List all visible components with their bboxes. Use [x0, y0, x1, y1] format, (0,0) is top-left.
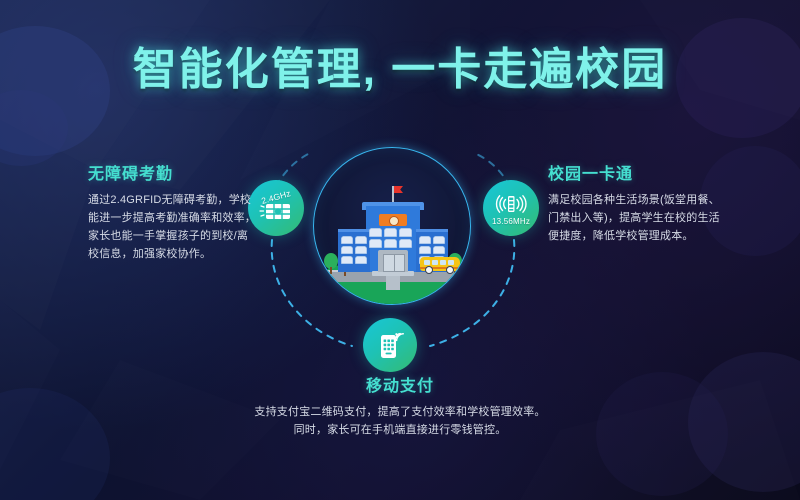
flag-pole: [392, 186, 394, 202]
entrance-path: [386, 274, 400, 290]
building-entrance: [378, 250, 408, 272]
windows-wing-left: [341, 236, 367, 264]
badge-13-56mhz[interactable]: 13.56MHz: [483, 180, 539, 236]
clock-icon: [389, 216, 399, 226]
campus-card-infographic: 智能化管理, 一卡走遍校园: [0, 0, 800, 500]
bg-blob-bottom-right-2: [596, 372, 728, 496]
school-bus: [420, 257, 460, 274]
red-flag-icon: [393, 186, 403, 193]
feature-title-campus-card: 校园一卡通: [548, 160, 720, 184]
bus-wheel-front: [425, 266, 433, 274]
feature-block-campus-card: 校园一卡通 满足校园各种生活场景(饭堂用餐、门禁出入等)，提高学生在校的生活便捷…: [548, 160, 720, 245]
bg-blob-bottom-left: [0, 388, 110, 500]
feature-block-mobile-pay: 移动支付 支持支付宝二维码支付，提高了支付效率和学校管理效率。同时，家长可在手机…: [250, 372, 550, 439]
feature-body-mobile-pay: 支持支付宝二维码支付，提高了支付效率和学校管理效率。同时，家长可在手机端直接进行…: [250, 403, 550, 439]
feature-body-campus-card: 满足校园各种生活场景(饭堂用餐、门禁出入等)，提高学生在校的生活便捷度，降低学校…: [548, 191, 720, 245]
page-title: 智能化管理, 一卡走遍校园: [0, 44, 800, 96]
smartphone-nfc-icon: [374, 329, 406, 361]
feature-title-attendance: 无障碍考勤: [88, 160, 256, 184]
clock-panel: [379, 214, 407, 226]
feature-title-mobile-pay: 移动支付: [250, 372, 550, 396]
badge-mobile-pay[interactable]: [363, 318, 417, 372]
school-illustration-ring: [313, 147, 471, 305]
nfc-card-waves-icon: [494, 193, 528, 215]
entrance-door: [383, 254, 405, 272]
bus-wheel-rear: [446, 266, 454, 274]
tree-left: [324, 253, 338, 274]
bg-blob-top-left-small: [0, 90, 68, 166]
bg-blob-bottom-right: [688, 352, 800, 492]
feature-block-attendance: 无障碍考勤 通过2.4GRFID无障碍考勤，学校能进一步提高考勤准确率和效率，家…: [88, 160, 256, 263]
feature-body-attendance: 通过2.4GRFID无障碍考勤，学校能进一步提高考勤准确率和效率，家长也能一手掌…: [88, 191, 256, 263]
windows-core: [369, 228, 412, 248]
badge-2-4ghz[interactable]: 2.4GHz: [248, 180, 304, 236]
badge-label-13-56mhz: 13.56MHz: [492, 217, 530, 226]
